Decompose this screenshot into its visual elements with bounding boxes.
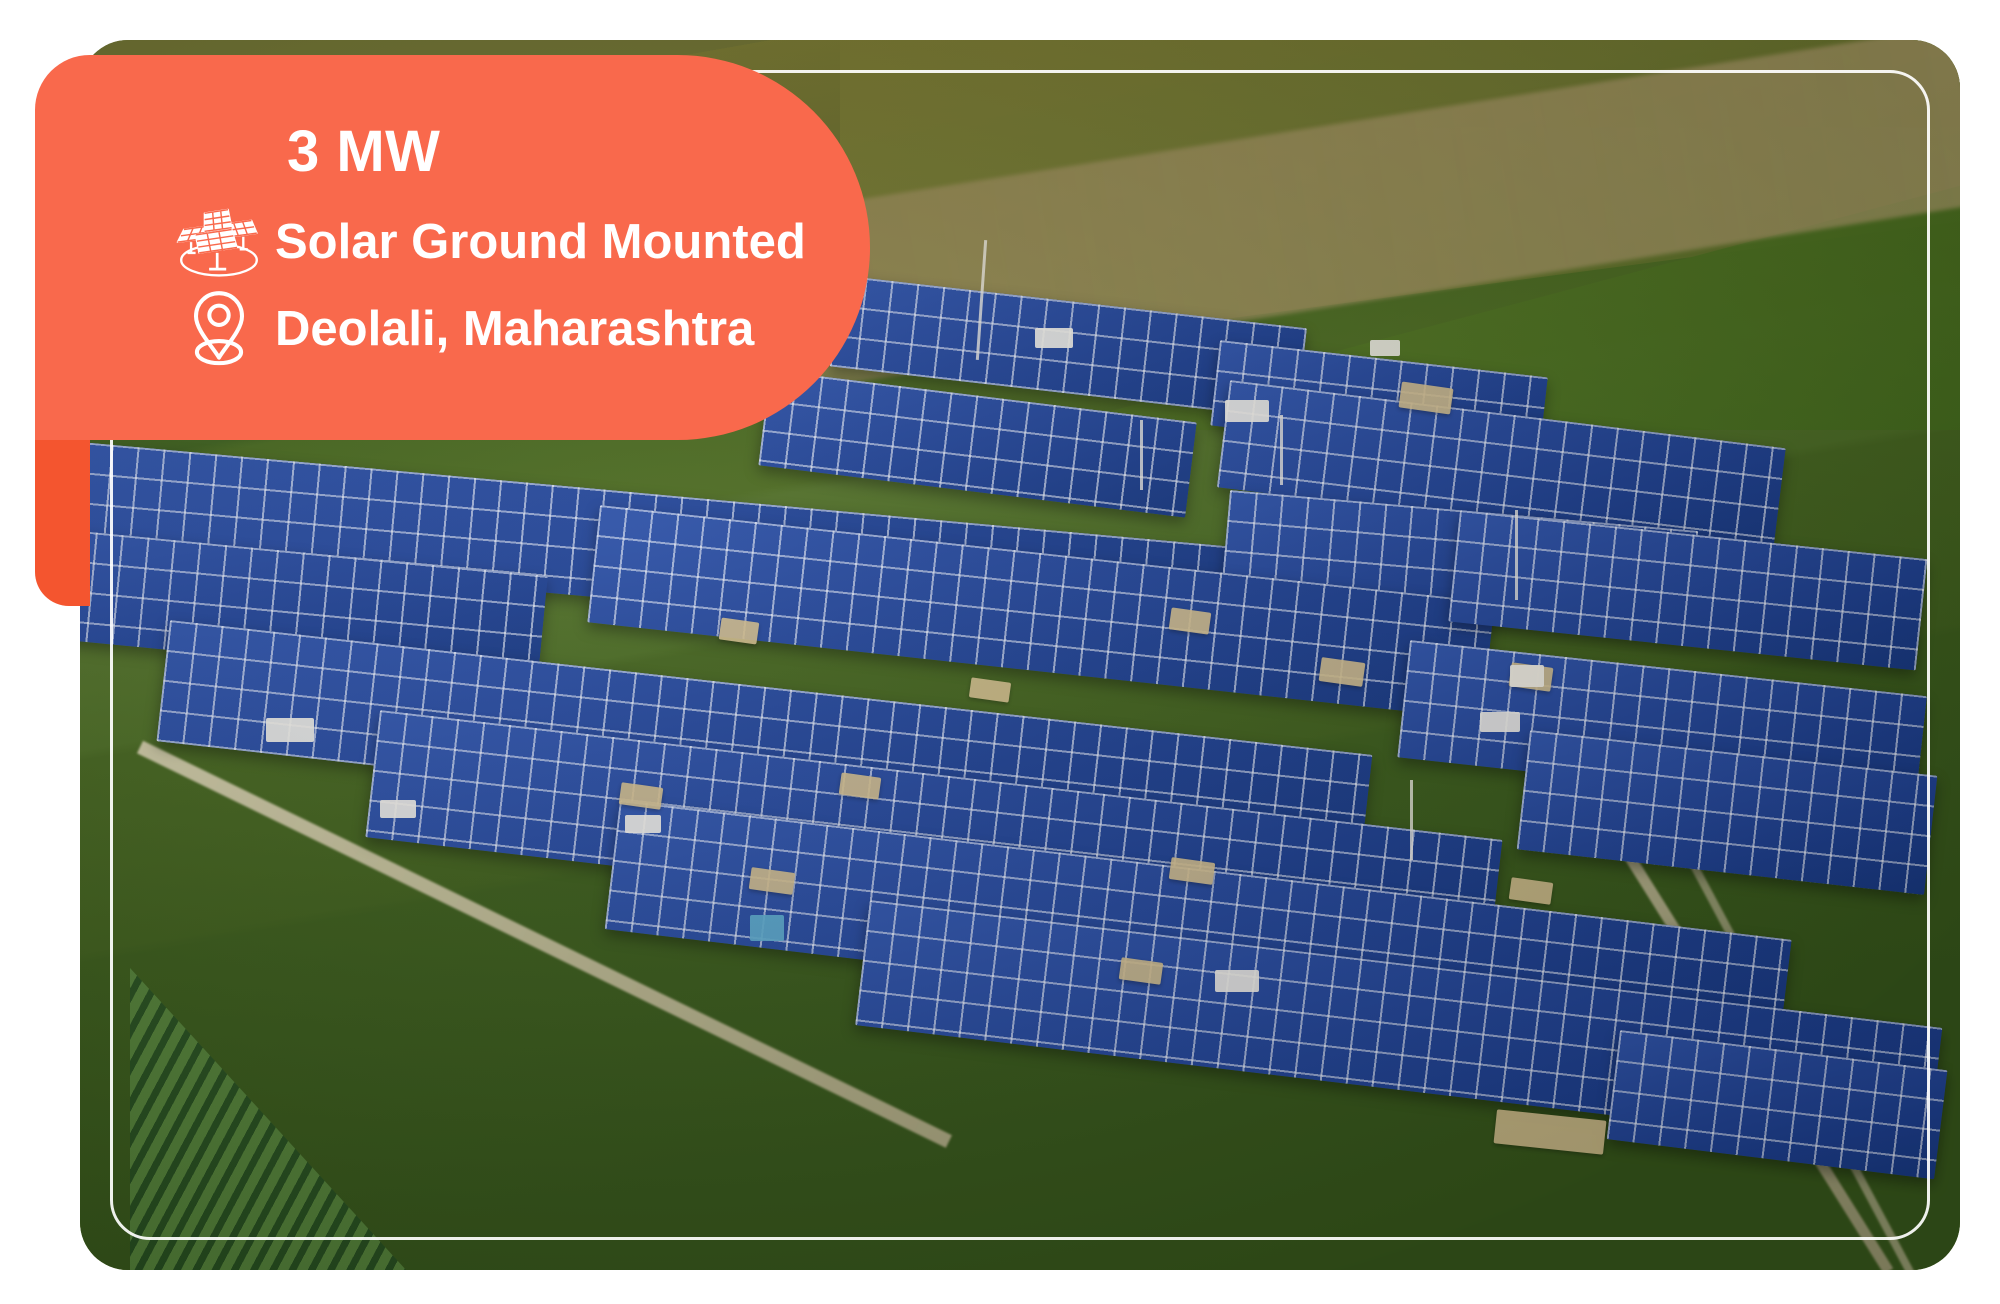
plant-capacity: 3 MW bbox=[287, 123, 870, 181]
site-post bbox=[1410, 780, 1413, 860]
location-label: Deolali, Maharashtra bbox=[275, 304, 754, 355]
technology-label: Solar Ground Mounted bbox=[275, 217, 806, 268]
site-equipment-box bbox=[625, 815, 661, 833]
site-post bbox=[1280, 415, 1283, 485]
info-row-location: Deolali, Maharashtra bbox=[35, 289, 870, 371]
project-info-badge-content: 3 MW bbox=[35, 55, 870, 440]
solar-panel-icon bbox=[163, 203, 275, 283]
site-equipment-box bbox=[266, 718, 314, 742]
site-equipment-box bbox=[1510, 665, 1544, 687]
site-equipment-box bbox=[1480, 712, 1520, 732]
site-equipment-box bbox=[1225, 400, 1269, 422]
site-equipment-box bbox=[380, 800, 416, 818]
site-equipment-box bbox=[1215, 970, 1259, 992]
site-equipment-box bbox=[1035, 328, 1073, 348]
project-card-stage: 3 MW bbox=[0, 0, 2000, 1304]
site-equipment-box bbox=[750, 915, 784, 941]
location-pin-icon bbox=[163, 289, 275, 371]
site-post bbox=[1515, 510, 1518, 600]
site-post bbox=[1140, 420, 1143, 490]
site-equipment-box bbox=[1370, 340, 1400, 356]
info-row-technology: Solar Ground Mounted bbox=[35, 203, 870, 283]
project-info-badge: 3 MW bbox=[35, 55, 870, 440]
top-right-corner-notch bbox=[1966, 0, 2000, 34]
